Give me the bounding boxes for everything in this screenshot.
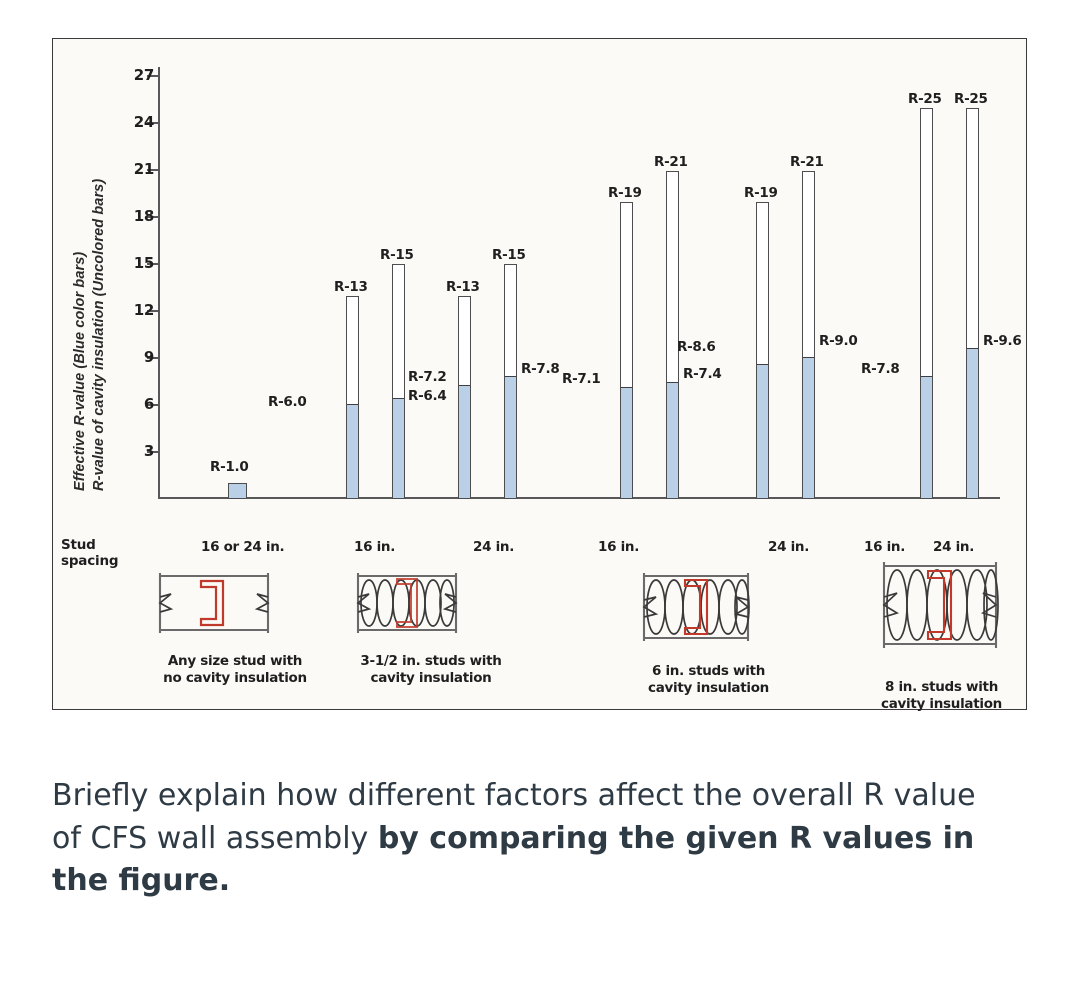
bar-fill-g4-24in-r25 [967,348,978,498]
caption-group2-line1: 3-1/2 in. studs with [336,653,526,670]
bar-label-g3-16in-r19-eff: R-7.1 [562,371,600,387]
wall-diagram-8in [865,557,1015,658]
bar-label-g2-24in-r13-eff: R-7.2 [408,369,446,385]
bar-fill-g3-16in-r21 [667,382,678,498]
question-prompt: Briefly explain how different factors af… [52,775,1012,903]
spacing-label-group2-24in: 24 in. [473,539,514,555]
bar-label-g3-24in-r19-top: R-19 [744,185,778,201]
spacing-label-group3-16in: 16 in. [598,539,639,555]
bar-label-g3-24in-r21-top: R-21 [790,154,824,170]
bar-label-g4-16in-r25-eff: R-7.8 [861,361,899,377]
y-axis-title-group: Effective R-value (Blue color bars) R-va… [53,39,109,501]
caption-group4-line1: 8 in. studs with [859,679,1024,696]
bar-fill-g2-16in-r13 [347,404,358,498]
bar-label-g3-24in-r21-eff: R-9.0 [819,333,857,349]
bar-fill-g2-24in-r13 [459,385,470,498]
bar-g1-effective-r1 [228,483,247,499]
bar-label-g2-16in-r15-eff: R-6.4 [408,388,446,404]
bar-label-g3-24in-r19-eff: R-8.6 [677,339,715,355]
bar-fill-g4-16in-r25 [921,376,932,498]
stud-spacing-axis-label: Stud spacing [61,537,153,570]
bar-g2-24in-r15 [504,264,517,499]
bar-fill-g2-24in-r15 [505,376,516,498]
spacing-label-group3-24in: 24 in. [768,539,809,555]
spacing-label-group4-16in: 16 in. [864,539,905,555]
wall-diagram-no-insulation [151,567,277,644]
bar-label-g4-24in-r25-eff: R-9.6 [983,333,1021,349]
bar-label-g4-24in-r25-top: R-25 [954,91,988,107]
bar-label-g2-24in-r15-eff: R-7.8 [521,361,559,377]
bar-fill-g3-24in-r19 [757,364,768,498]
bar-fill-g3-16in-r19 [621,387,632,498]
bar-label-g2-24in-r13-top: R-13 [446,279,480,295]
bar-label-g2-16in-r15-top: R-15 [380,247,414,263]
question-part3: . [219,863,230,898]
bar-g4-24in-r25 [966,108,979,499]
bar-g2-16in-r15 [392,264,405,499]
caption-group1-line2: no cavity insulation [145,670,325,687]
x-axis-line [158,497,1000,499]
cfs-stud-6in-insulation-icon [627,567,767,647]
figure-panel: Effective R-value (Blue color bars) R-va… [52,38,1027,710]
caption-group2-line2: cavity insulation [336,670,526,687]
caption-group4: 8 in. studs with cavity insulation [859,679,1024,713]
spacing-label-group2-16in: 16 in. [354,539,395,555]
bar-g2-16in-r13 [346,296,359,499]
bar-g3-24in-r19 [756,202,769,499]
bar-fill-g2-16in-r15 [393,398,404,498]
bar-label-g3-16in-r21-eff: R-7.4 [683,366,721,382]
bar-label-g2-16in-r13-eff: R-6.0 [268,394,306,410]
bar-label-g3-16in-r19-top: R-19 [608,185,642,201]
bar-g2-24in-r13 [458,296,471,499]
caption-group1-line1: Any size stud with [145,653,325,670]
cfs-stud-8in-insulation-icon [865,557,1015,653]
caption-group3-line2: cavity insulation [621,680,796,697]
cfs-stud-no-insulation-icon [151,567,277,639]
caption-group3-line1: 6 in. studs with [621,663,796,680]
caption-group2: 3-1/2 in. studs with cavity insulation [336,653,526,687]
bar-label-g1-r1: R-1.0 [210,459,248,475]
caption-group4-line2: cavity insulation [859,696,1024,713]
wall-diagram-6in [627,567,767,652]
bar-g4-16in-r25 [920,108,933,499]
bar-label-g2-24in-r15-top: R-15 [492,247,526,263]
spacing-label-group1: 16 or 24 in. [201,539,284,555]
caption-group1: Any size stud with no cavity insulation [145,653,325,687]
wall-diagram-3half-in [343,567,473,644]
bar-fill-g3-24in-r21 [803,357,814,498]
bar-g3-24in-r21 [802,171,815,499]
stud-spacing-line1: Stud [61,537,153,553]
cfs-stud-batt-insulation-icon [343,567,473,639]
bar-g3-16in-r21 [666,171,679,499]
bar-label-g3-16in-r21-top: R-21 [654,154,688,170]
caption-group3: 6 in. studs with cavity insulation [621,663,796,697]
plot-area: 27 24 21 18 15 12 9 6 3 R-1.0 R-13 R-6.0… [158,67,1000,501]
y-axis-line [158,67,160,499]
bar-label-g2-16in-r13-top: R-13 [334,279,368,295]
bar-label-g4-16in-r25-top: R-25 [908,91,942,107]
y-axis-title-cavity: R-value of cavity insulation (Uncolored … [91,179,107,491]
stud-spacing-line2: spacing [61,553,153,569]
spacing-label-group4-24in: 24 in. [933,539,974,555]
bar-g3-16in-r19 [620,202,633,499]
y-axis-title-effective: Effective R-value (Blue color bars) [72,252,88,491]
